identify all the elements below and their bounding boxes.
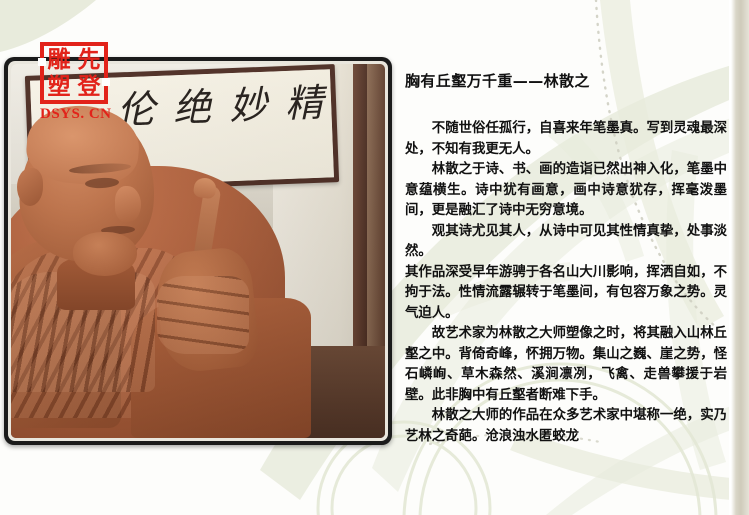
article-panel: 胸有丘壑万千重——林散之 不随世俗任孤行，自喜来年笔墨真。写到灵魂最深处，不知有… <box>405 70 727 447</box>
article-paragraph: 故艺术家为林散之大师塑像之时，将其融入山林丘壑之中。背倚奇峰，怀拥万物。集山之巍… <box>405 324 727 406</box>
article-paragraph: 林散之大师的作品在众多艺术家中堪称一绝，实乃艺林之奇葩。沧浪浊水匿蛟龙 <box>405 406 727 447</box>
seal-border: 雕 先 塑 登 <box>40 42 108 104</box>
watermark-url: DSYS. CN <box>40 106 118 123</box>
right-band-edge <box>729 0 731 515</box>
seal-watermark: 雕 先 塑 登 DSYS. CN <box>40 42 118 124</box>
seal-char-1: 雕 <box>44 46 74 73</box>
article-body: 不随世俗任孤行，自喜来年笔墨真。写到灵魂最深处，不知有我更无人。林散之于诗、书、… <box>405 119 727 447</box>
seal-character-grid: 雕 先 塑 登 <box>44 46 104 100</box>
seal-char-3: 塑 <box>44 73 74 100</box>
article-paragraph: 林散之于诗、书、画的造诣已然出神入化，笔墨中意蕴横生。诗中犹有画意，画中诗意犹存… <box>405 160 727 222</box>
article-paragraph: 不随世俗任孤行，自喜来年笔墨真。写到灵魂最深处，不知有我更无人。 <box>405 119 727 160</box>
right-edge-band <box>731 0 749 515</box>
article-title: 胸有丘壑万千重——林散之 <box>405 70 727 91</box>
article-paragraph: 其作品深受早年游骋于各名山大川影响，挥洒自如，不拘于法。性情流露辗转于笔墨间，有… <box>405 263 727 325</box>
page-root: 伦 绝 妙 精 <box>0 0 749 515</box>
seal-char-2: 先 <box>74 46 104 73</box>
seal-char-4: 登 <box>74 73 104 100</box>
article-paragraph: 观其诗尤见其人，从诗中可见其性情真挚，处事淡然。 <box>405 222 727 263</box>
